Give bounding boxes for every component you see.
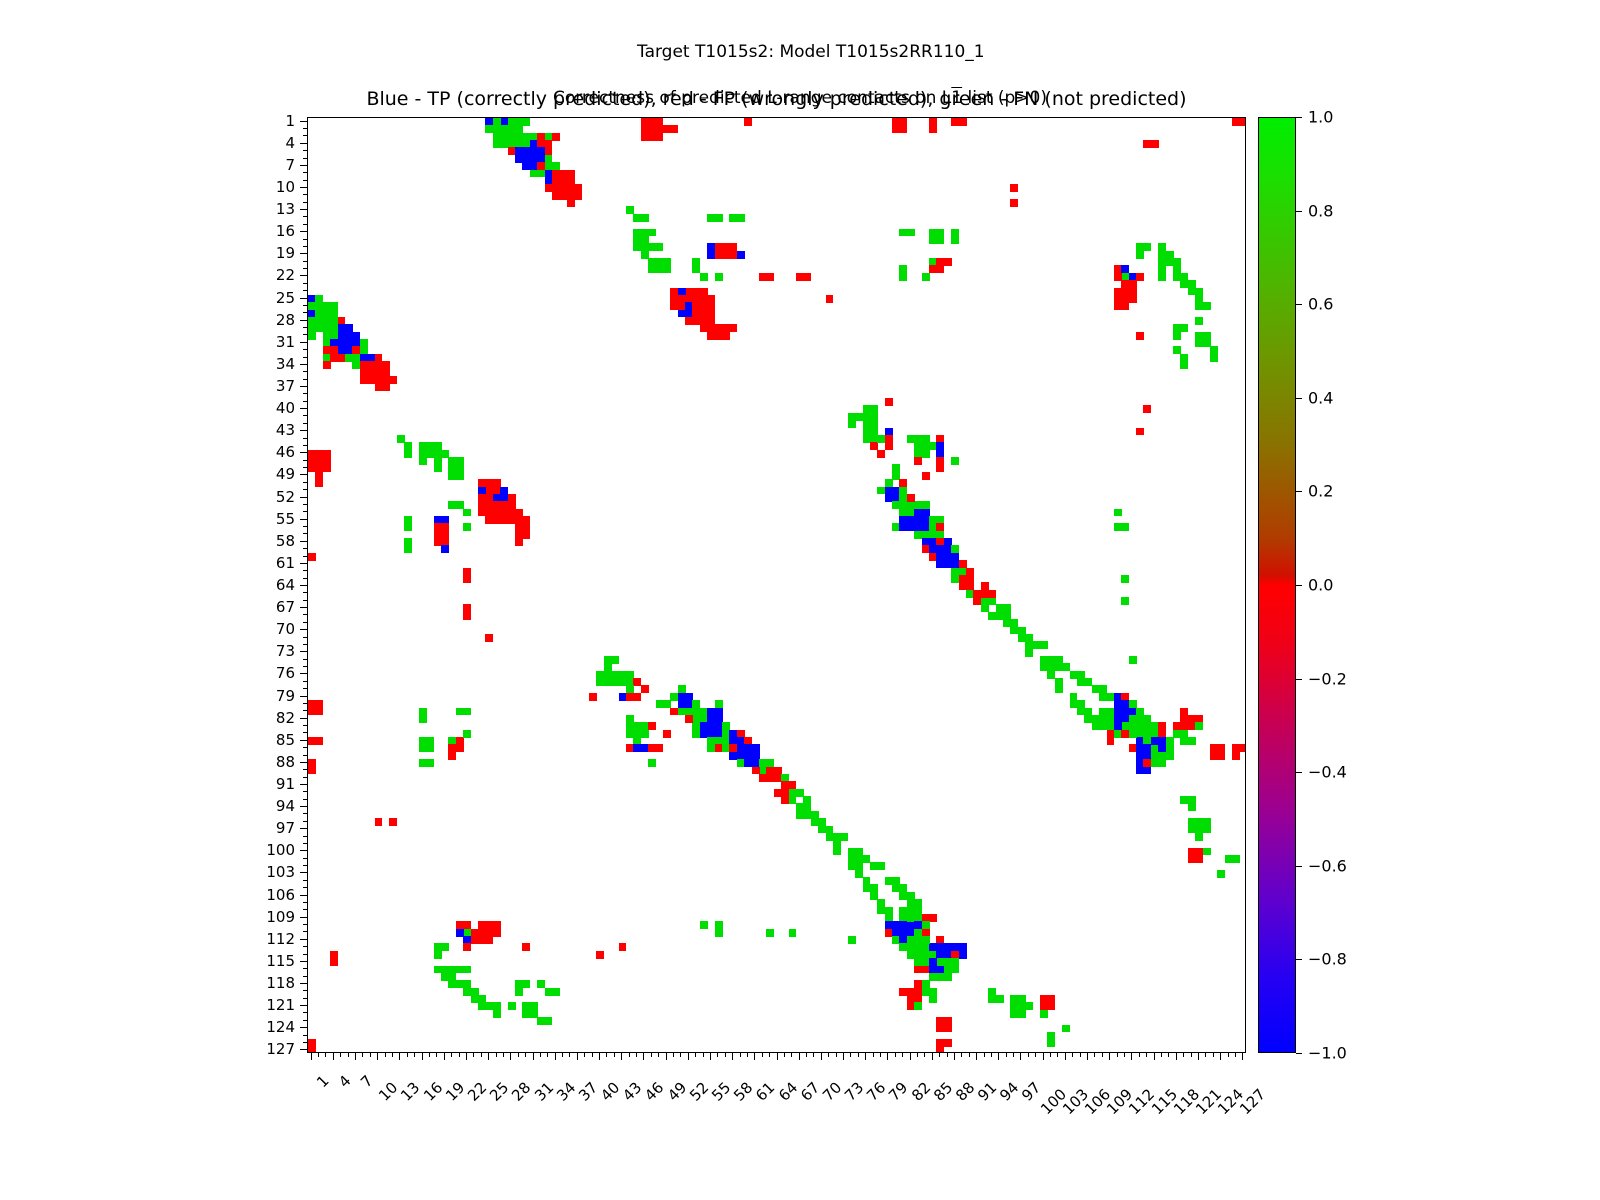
contact-cell bbox=[922, 450, 930, 458]
y-tick-minor bbox=[303, 843, 307, 844]
contact-cell bbox=[382, 383, 390, 391]
contact-cell bbox=[1136, 428, 1144, 436]
x-tick-major bbox=[355, 1053, 356, 1060]
y-tick-major bbox=[300, 364, 307, 365]
contact-cell bbox=[692, 708, 700, 716]
contact-cell bbox=[1107, 737, 1115, 745]
contact-cell bbox=[936, 464, 944, 472]
contact-cell bbox=[648, 722, 656, 730]
contact-cell bbox=[1121, 265, 1129, 273]
x-tick-minor bbox=[614, 1053, 615, 1057]
x-tick-minor bbox=[1013, 1053, 1014, 1057]
contact-cell bbox=[656, 744, 664, 752]
contact-cell bbox=[448, 752, 456, 760]
contact-cell bbox=[1018, 627, 1026, 635]
contact-cell bbox=[663, 730, 671, 738]
contact-cell bbox=[678, 288, 686, 296]
contact-cell bbox=[1210, 354, 1218, 362]
contact-cell bbox=[1166, 752, 1174, 760]
contact-cell bbox=[929, 995, 937, 1003]
contact-cell bbox=[1121, 597, 1129, 605]
y-tick-major bbox=[300, 121, 307, 122]
contact-cell bbox=[1040, 641, 1048, 649]
contact-cell bbox=[1114, 273, 1122, 281]
y-tick-minor bbox=[303, 438, 307, 439]
y-tick-major bbox=[300, 563, 307, 564]
x-tick-minor bbox=[525, 1053, 526, 1057]
y-tick-major bbox=[300, 850, 307, 851]
y-tick-minor bbox=[303, 401, 307, 402]
contact-cell bbox=[515, 125, 523, 133]
x-tick-minor bbox=[429, 1053, 430, 1057]
y-tick-minor bbox=[303, 460, 307, 461]
y-tick-label: 4 bbox=[285, 134, 295, 152]
contact-cell bbox=[426, 744, 434, 752]
contact-cell bbox=[633, 693, 641, 701]
y-tick-label: 91 bbox=[276, 775, 295, 793]
contact-cell bbox=[1047, 1039, 1055, 1047]
y-tick-label: 34 bbox=[276, 355, 295, 373]
colorbar-tick-label: −0.8 bbox=[1308, 950, 1347, 969]
contact-cell bbox=[656, 265, 664, 273]
colorbar-tick bbox=[1296, 866, 1302, 867]
contact-cell bbox=[715, 273, 723, 281]
y-tick-major bbox=[300, 1049, 307, 1050]
y-tick-minor bbox=[303, 445, 307, 446]
y-tick-minor bbox=[303, 548, 307, 549]
y-tick-label: 112 bbox=[266, 930, 295, 948]
x-tick-major bbox=[643, 1053, 644, 1060]
contact-cell bbox=[522, 980, 530, 988]
contact-cell bbox=[308, 767, 316, 775]
contact-cell bbox=[766, 929, 774, 937]
contact-cell bbox=[1121, 302, 1129, 310]
contact-cell bbox=[922, 936, 930, 944]
contact-cell bbox=[656, 133, 664, 141]
y-tick-minor bbox=[303, 379, 307, 380]
y-tick-minor bbox=[303, 239, 307, 240]
contact-cell bbox=[1203, 826, 1211, 834]
y-tick-minor bbox=[303, 659, 307, 660]
y-tick-label: 7 bbox=[285, 156, 295, 174]
x-tick-minor bbox=[1050, 1053, 1051, 1057]
y-tick-label: 127 bbox=[266, 1040, 295, 1058]
contact-cell bbox=[1143, 405, 1151, 413]
x-tick-minor bbox=[695, 1053, 696, 1057]
x-tick-minor bbox=[1094, 1053, 1095, 1057]
y-tick-minor bbox=[303, 423, 307, 424]
y-tick-major bbox=[300, 784, 307, 785]
x-tick-minor bbox=[629, 1053, 630, 1057]
y-tick-minor bbox=[303, 482, 307, 483]
colorbar-tick-label: 0.6 bbox=[1308, 295, 1333, 314]
y-tick-major bbox=[300, 430, 307, 431]
contact-cell bbox=[493, 1010, 501, 1018]
colorbar-tick-label: 0.8 bbox=[1308, 201, 1333, 220]
contact-cell bbox=[1180, 324, 1188, 332]
y-tick-major bbox=[300, 231, 307, 232]
contact-cell bbox=[493, 516, 501, 524]
x-tick-minor bbox=[740, 1053, 741, 1057]
y-tick-minor bbox=[303, 334, 307, 335]
x-tick-major bbox=[1131, 1053, 1132, 1060]
contact-cell bbox=[1136, 332, 1144, 340]
contact-map-plot-area[interactable] bbox=[307, 117, 1246, 1053]
x-tick-major bbox=[1198, 1053, 1199, 1060]
contact-cell bbox=[1180, 361, 1188, 369]
y-tick-major bbox=[300, 452, 307, 453]
x-tick-major bbox=[488, 1053, 489, 1060]
x-tick-major bbox=[710, 1053, 711, 1060]
y-tick-minor bbox=[303, 393, 307, 394]
y-tick-minor bbox=[303, 128, 307, 129]
y-tick-minor bbox=[303, 725, 307, 726]
contact-cell bbox=[493, 133, 501, 141]
contact-cell bbox=[1136, 273, 1144, 281]
contact-cell bbox=[1055, 685, 1063, 693]
contact-cell bbox=[914, 457, 922, 465]
y-tick-label: 94 bbox=[276, 797, 295, 815]
x-tick-minor bbox=[1191, 1053, 1192, 1057]
contact-cell bbox=[641, 730, 649, 738]
contact-cell bbox=[552, 988, 560, 996]
y-tick-label: 82 bbox=[276, 709, 295, 727]
contact-cell bbox=[308, 332, 316, 340]
contact-cell bbox=[885, 442, 893, 450]
x-tick-major bbox=[954, 1053, 955, 1060]
y-tick-label: 13 bbox=[276, 200, 295, 218]
contact-cell bbox=[670, 125, 678, 133]
x-tick-minor bbox=[1080, 1053, 1081, 1057]
contact-cell bbox=[885, 398, 893, 406]
contact-cell bbox=[434, 951, 442, 959]
x-tick-major bbox=[777, 1053, 778, 1060]
contact-cell bbox=[1240, 118, 1246, 126]
y-tick-minor bbox=[303, 880, 307, 881]
contact-cell bbox=[478, 487, 486, 495]
y-tick-major bbox=[300, 872, 307, 873]
contact-cell bbox=[648, 759, 656, 767]
y-tick-major bbox=[300, 1005, 307, 1006]
contact-cell bbox=[515, 988, 523, 996]
colorbar-tick bbox=[1296, 1053, 1302, 1054]
colorbar-tick-label: 0.4 bbox=[1308, 388, 1333, 407]
x-tick-minor bbox=[436, 1053, 437, 1057]
contact-cell bbox=[596, 951, 604, 959]
y-tick-label: 88 bbox=[276, 753, 295, 771]
contact-cell bbox=[1062, 1025, 1070, 1033]
x-tick-major bbox=[311, 1053, 312, 1060]
y-tick-label: 55 bbox=[276, 510, 295, 528]
x-tick-minor bbox=[584, 1053, 585, 1057]
contact-cell bbox=[729, 324, 737, 332]
contact-cell bbox=[1025, 649, 1033, 657]
x-tick-major bbox=[1154, 1053, 1155, 1060]
suptitle-line-1: Target T1015s2: Model T1015s2RR110_1 bbox=[637, 42, 985, 62]
contact-cell bbox=[574, 192, 582, 200]
x-tick-minor bbox=[858, 1053, 859, 1057]
y-tick-major bbox=[300, 673, 307, 674]
contact-cell bbox=[1195, 833, 1203, 841]
contact-cell bbox=[1188, 737, 1196, 745]
y-tick-minor bbox=[303, 216, 307, 217]
contact-cell bbox=[840, 833, 848, 841]
y-tick-minor bbox=[303, 150, 307, 151]
x-tick-minor bbox=[459, 1053, 460, 1057]
y-tick-major bbox=[300, 718, 307, 719]
contact-cell bbox=[737, 214, 745, 222]
y-tick-minor bbox=[303, 194, 307, 195]
y-tick-minor bbox=[303, 799, 307, 800]
y-tick-minor bbox=[303, 489, 307, 490]
y-tick-major bbox=[300, 320, 307, 321]
y-tick-minor bbox=[303, 202, 307, 203]
y-tick-label: 70 bbox=[276, 620, 295, 638]
contact-cell bbox=[552, 162, 560, 170]
contact-cell bbox=[434, 464, 442, 472]
y-tick-minor bbox=[303, 821, 307, 822]
x-tick-minor bbox=[569, 1053, 570, 1057]
contact-cell bbox=[375, 818, 383, 826]
y-tick-minor bbox=[303, 954, 307, 955]
colorbar-gradient bbox=[1258, 117, 1296, 1053]
y-tick-major bbox=[300, 828, 307, 829]
x-tick-minor bbox=[917, 1053, 918, 1057]
contact-cell bbox=[493, 929, 501, 937]
x-tick-minor bbox=[880, 1053, 881, 1057]
x-tick-minor bbox=[961, 1053, 962, 1057]
contact-cell bbox=[996, 612, 1004, 620]
y-tick-major bbox=[300, 961, 307, 962]
x-tick-major bbox=[688, 1053, 689, 1060]
contact-cell bbox=[685, 317, 693, 325]
contact-cell bbox=[899, 273, 907, 281]
y-tick-minor bbox=[303, 836, 307, 837]
x-tick-minor bbox=[1161, 1053, 1162, 1057]
contact-map-figure: Target T1015s2: Model T1015s2RR110_1 Cor… bbox=[0, 0, 1600, 1200]
y-tick-minor bbox=[303, 357, 307, 358]
x-tick-major bbox=[887, 1053, 888, 1060]
contact-cell bbox=[700, 324, 708, 332]
contact-cell bbox=[456, 929, 464, 937]
contact-cell bbox=[715, 929, 723, 937]
contact-cell bbox=[1018, 1010, 1026, 1018]
contact-cell bbox=[707, 302, 715, 310]
contact-cell bbox=[656, 243, 664, 251]
y-tick-major bbox=[300, 342, 307, 343]
contact-cell bbox=[1217, 870, 1225, 878]
x-tick-minor bbox=[806, 1053, 807, 1057]
contact-cell bbox=[641, 685, 649, 693]
y-tick-major bbox=[300, 983, 307, 984]
x-tick-minor bbox=[1117, 1053, 1118, 1057]
y-tick-major bbox=[300, 1027, 307, 1028]
y-tick-major bbox=[300, 696, 307, 697]
contact-cell bbox=[1158, 273, 1166, 281]
contact-cell bbox=[522, 531, 530, 539]
colorbar-tick-label: 1.0 bbox=[1308, 108, 1333, 127]
x-tick-minor bbox=[1006, 1053, 1007, 1057]
x-tick-minor bbox=[451, 1053, 452, 1057]
y-tick-label: 76 bbox=[276, 664, 295, 682]
x-tick-major bbox=[555, 1053, 556, 1060]
colorbar-tick bbox=[1296, 959, 1302, 960]
contact-cell bbox=[1129, 730, 1137, 738]
contact-cell bbox=[1232, 752, 1240, 760]
axes-title-legend: Blue - TP (correctly predicted), red - F… bbox=[307, 88, 1246, 110]
y-tick-label: 52 bbox=[276, 488, 295, 506]
x-tick-minor bbox=[969, 1053, 970, 1057]
y-tick-minor bbox=[303, 902, 307, 903]
x-tick-minor bbox=[503, 1053, 504, 1057]
y-tick-label: 64 bbox=[276, 576, 295, 594]
colorbar-tick bbox=[1296, 491, 1302, 492]
contact-cell bbox=[922, 472, 930, 480]
contact-cell bbox=[1195, 317, 1203, 325]
contact-cell bbox=[330, 958, 338, 966]
contact-cell bbox=[959, 118, 967, 126]
contact-cell bbox=[463, 966, 471, 974]
contact-cell bbox=[456, 464, 464, 472]
x-tick-minor bbox=[1228, 1053, 1229, 1057]
y-tick-minor bbox=[303, 1012, 307, 1013]
y-tick-label: 28 bbox=[276, 311, 295, 329]
y-tick-minor bbox=[303, 172, 307, 173]
contact-cell bbox=[899, 125, 907, 133]
y-tick-minor bbox=[303, 924, 307, 925]
x-tick-minor bbox=[518, 1053, 519, 1057]
contact-cell bbox=[848, 936, 856, 944]
x-tick-minor bbox=[850, 1053, 851, 1057]
contact-cell bbox=[951, 236, 959, 244]
y-tick-major bbox=[300, 541, 307, 542]
x-tick-major bbox=[865, 1053, 866, 1060]
contact-cell bbox=[1143, 243, 1151, 251]
contact-cell bbox=[877, 862, 885, 870]
y-tick-label: 46 bbox=[276, 443, 295, 461]
contact-cell bbox=[404, 545, 412, 553]
y-tick-minor bbox=[303, 887, 307, 888]
contact-cell bbox=[988, 590, 996, 598]
colorbar-tick-label: 0.2 bbox=[1308, 482, 1333, 501]
x-tick-minor bbox=[1057, 1053, 1058, 1057]
contact-cell bbox=[959, 951, 967, 959]
y-tick-label: 61 bbox=[276, 554, 295, 572]
x-tick-major bbox=[932, 1053, 933, 1060]
y-tick-minor bbox=[303, 777, 307, 778]
y-tick-minor bbox=[303, 261, 307, 262]
contact-cell bbox=[323, 302, 331, 310]
x-tick-minor bbox=[348, 1053, 349, 1057]
x-tick-minor bbox=[592, 1053, 593, 1057]
contact-cell bbox=[545, 1017, 553, 1025]
contact-cell bbox=[419, 715, 427, 723]
contact-cell bbox=[737, 251, 745, 259]
contact-cell bbox=[463, 708, 471, 716]
y-tick-label: 22 bbox=[276, 266, 295, 284]
y-tick-minor bbox=[303, 1020, 307, 1021]
x-tick-minor bbox=[836, 1053, 837, 1057]
contact-cell bbox=[515, 509, 523, 517]
y-tick-label: 58 bbox=[276, 532, 295, 550]
contact-cell bbox=[1114, 302, 1122, 310]
contact-cell bbox=[1203, 848, 1211, 856]
y-tick-major bbox=[300, 474, 307, 475]
y-tick-major bbox=[300, 143, 307, 144]
x-tick-major bbox=[799, 1053, 800, 1060]
contact-cell bbox=[308, 553, 316, 561]
contact-cell bbox=[951, 966, 959, 974]
contact-cell bbox=[766, 273, 774, 281]
contact-cell bbox=[315, 479, 323, 487]
x-tick-label: 127 bbox=[1236, 1085, 1269, 1118]
y-tick-major bbox=[300, 895, 307, 896]
x-tick-major bbox=[732, 1053, 733, 1060]
x-tick-minor bbox=[717, 1053, 718, 1057]
x-tick-minor bbox=[1139, 1053, 1140, 1057]
contact-cell bbox=[1217, 752, 1225, 760]
y-tick-label: 109 bbox=[266, 908, 295, 926]
x-tick-major bbox=[399, 1053, 400, 1060]
contact-cell bbox=[1129, 656, 1137, 664]
x-tick-major bbox=[1020, 1053, 1021, 1060]
y-tick-minor bbox=[303, 990, 307, 991]
contact-cell bbox=[463, 943, 471, 951]
x-tick-minor bbox=[791, 1053, 792, 1057]
contact-cell bbox=[522, 943, 530, 951]
x-tick-minor bbox=[828, 1053, 829, 1057]
y-tick-minor bbox=[303, 998, 307, 999]
contact-cell bbox=[1040, 1010, 1048, 1018]
x-tick-minor bbox=[1235, 1053, 1236, 1057]
y-tick-minor bbox=[303, 755, 307, 756]
contact-cell bbox=[315, 737, 323, 745]
y-tick-label: 124 bbox=[266, 1018, 295, 1036]
contact-cell bbox=[323, 361, 331, 369]
y-tick-minor bbox=[303, 710, 307, 711]
y-tick-major bbox=[300, 408, 307, 409]
contact-cell bbox=[1010, 184, 1018, 192]
contact-cell bbox=[315, 708, 323, 716]
y-tick-minor bbox=[303, 578, 307, 579]
x-tick-minor bbox=[1035, 1053, 1036, 1057]
contact-cell bbox=[803, 803, 811, 811]
y-tick-minor bbox=[303, 371, 307, 372]
y-tick-major bbox=[300, 519, 307, 520]
contact-cell bbox=[848, 420, 856, 428]
x-tick-major bbox=[444, 1053, 445, 1060]
y-tick-minor bbox=[303, 415, 307, 416]
x-tick-minor bbox=[370, 1053, 371, 1057]
y-tick-major bbox=[300, 298, 307, 299]
y-tick-minor bbox=[303, 976, 307, 977]
contact-cell bbox=[1121, 575, 1129, 583]
y-tick-minor bbox=[303, 246, 307, 247]
x-tick-minor bbox=[762, 1053, 763, 1057]
contact-cell bbox=[1136, 251, 1144, 259]
contact-cell bbox=[803, 273, 811, 281]
x-tick-major bbox=[621, 1053, 622, 1060]
x-tick-minor bbox=[540, 1053, 541, 1057]
contact-cell bbox=[648, 229, 656, 237]
contact-cell bbox=[1195, 855, 1203, 863]
x-tick-minor bbox=[496, 1053, 497, 1057]
x-tick-minor bbox=[606, 1053, 607, 1057]
y-tick-label: 118 bbox=[266, 974, 295, 992]
x-tick-major bbox=[998, 1053, 999, 1060]
y-tick-major bbox=[300, 740, 307, 741]
contact-cell bbox=[1173, 332, 1181, 340]
